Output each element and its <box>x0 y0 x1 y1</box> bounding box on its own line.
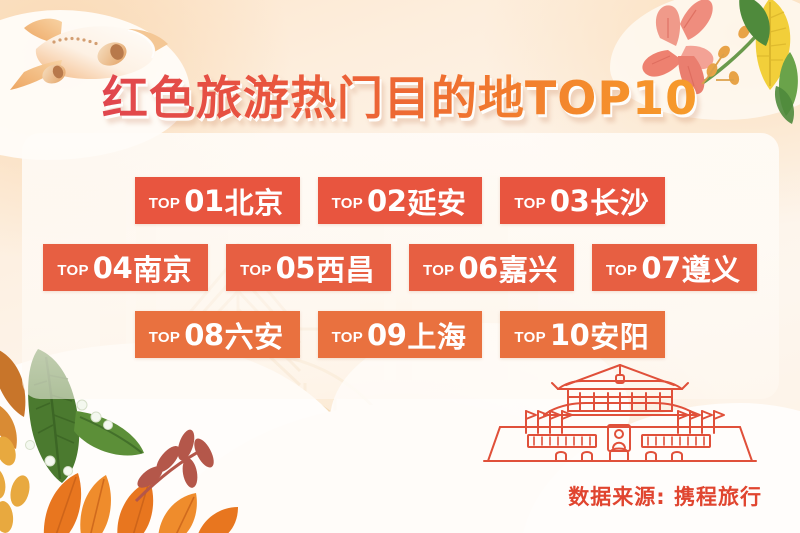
rank-tag-number: 03 <box>550 184 589 218</box>
rank-tag-number: 02 <box>367 184 406 218</box>
rank-tag-prefix: TOP <box>514 195 545 212</box>
rank-tag-09[interactable]: TOP09上海 <box>318 311 483 358</box>
rank-tag-city: 北京 <box>225 180 284 222</box>
rank-tag-05[interactable]: TOP05西昌 <box>226 244 391 291</box>
rank-tag-city: 嘉兴 <box>499 247 558 289</box>
rank-tag-prefix: TOP <box>514 329 545 346</box>
data-source-label: 数据来源: 携程旅行 <box>568 481 762 511</box>
rank-tag-prefix: TOP <box>423 262 454 279</box>
rank-tag-number: 09 <box>367 318 406 352</box>
ranking-row-1: TOP01北京TOP02延安TOP03长沙 <box>0 177 800 224</box>
rank-tag-number: 06 <box>458 251 497 285</box>
page-title: 红色旅游热门目的地TOP10 <box>0 62 800 128</box>
rank-tag-city: 六安 <box>225 314 284 356</box>
rank-tag-03[interactable]: TOP03长沙 <box>500 177 665 224</box>
rank-tag-number: 10 <box>550 318 589 352</box>
rank-tag-01[interactable]: TOP01北京 <box>135 177 300 224</box>
rank-tag-number: 01 <box>184 184 223 218</box>
rank-tag-prefix: TOP <box>332 329 363 346</box>
rank-tag-city: 遵义 <box>682 247 741 289</box>
rank-tag-06[interactable]: TOP06嘉兴 <box>409 244 574 291</box>
rank-tag-prefix: TOP <box>149 329 180 346</box>
rank-tag-08[interactable]: TOP08六安 <box>135 311 300 358</box>
rank-tag-city: 南京 <box>133 247 192 289</box>
rank-tag-07[interactable]: TOP07遵义 <box>592 244 757 291</box>
rank-tag-number: 05 <box>276 251 315 285</box>
rank-tag-04[interactable]: TOP04南京 <box>43 244 208 291</box>
rank-tag-number: 04 <box>93 251 132 285</box>
rank-tag-number: 07 <box>641 251 680 285</box>
rank-tag-prefix: TOP <box>332 195 363 212</box>
rank-tag-prefix: TOP <box>149 195 180 212</box>
rank-tag-prefix: TOP <box>240 262 271 279</box>
rank-tag-city: 延安 <box>407 180 466 222</box>
ranking-row-2: TOP04南京TOP05西昌TOP06嘉兴TOP07遵义 <box>0 244 800 291</box>
tiananmen-gate-icon <box>470 349 770 469</box>
rank-tag-prefix: TOP <box>606 262 637 279</box>
infographic-poster: 红色旅游热门目的地TOP10 TOP01北京TOP02延安TOP03长沙TOP0… <box>0 0 800 533</box>
rank-tag-number: 08 <box>184 318 223 352</box>
rank-tag-city: 上海 <box>407 314 466 356</box>
rank-tag-prefix: TOP <box>57 262 88 279</box>
rank-tag-city: 长沙 <box>590 180 649 222</box>
rank-tag-02[interactable]: TOP02延安 <box>318 177 483 224</box>
page-title-text: 红色旅游热门目的地TOP10 <box>102 62 698 128</box>
rank-tag-city: 西昌 <box>316 247 375 289</box>
